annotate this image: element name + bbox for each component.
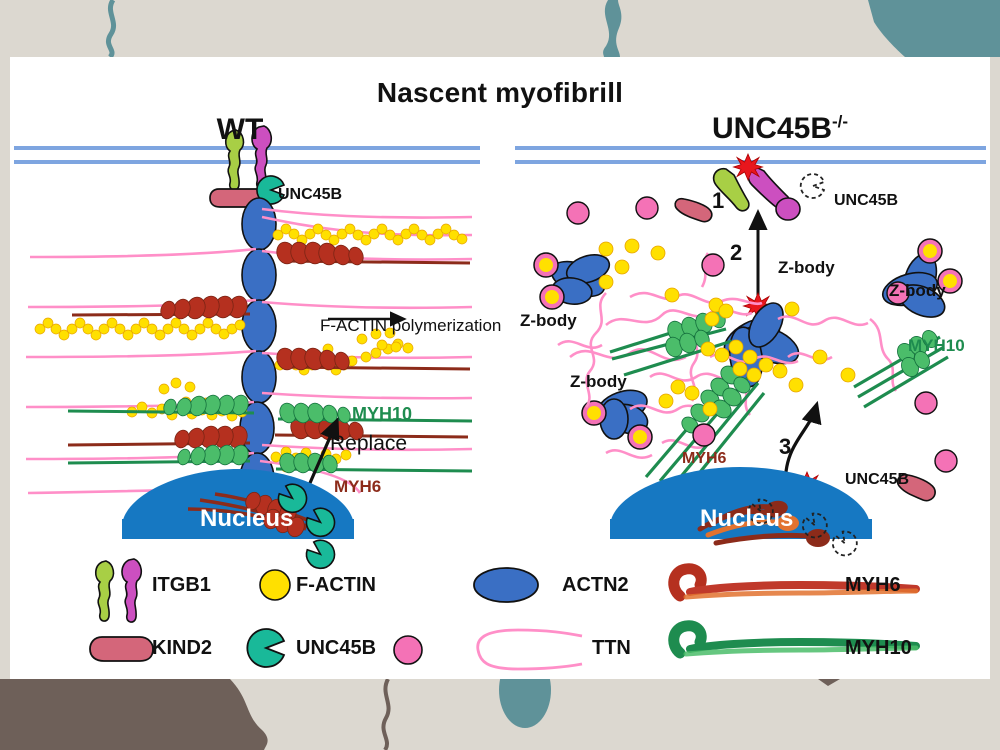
legend-label-kind2: KIND2	[152, 637, 212, 660]
figure-stage: Nascent myofibrill WT UNC45B-/- UNC45B F…	[0, 0, 1000, 750]
label-zbody-left-upper: Z-body	[520, 311, 577, 331]
legend-label-unc45b: UNC45B	[296, 637, 376, 660]
label-zbody-right: Z-body	[889, 281, 946, 301]
legend-label-ttn: TTN	[592, 637, 631, 660]
label-zbody-center: Z-body	[778, 258, 835, 278]
label-myh10-wt: MYH10	[352, 404, 412, 425]
label-step-3: 3	[779, 434, 791, 460]
label-myh6-ko: MYH6	[682, 450, 726, 468]
legend-icon-unc45b	[247, 629, 284, 667]
legend-label-actn2: ACTN2	[562, 574, 629, 597]
label-factin-polymerization: F-ACTIN polymerization	[320, 316, 501, 336]
label-step-1: 1	[712, 188, 724, 214]
label-step-2: 2	[730, 240, 742, 266]
label-nucleus-ko: Nucleus	[700, 505, 793, 533]
membrane-wt	[14, 148, 480, 162]
label-nucleus-wt: Nucleus	[200, 505, 293, 533]
label-replace: Replace	[330, 432, 407, 456]
legend-label-myh10: MYH10	[845, 637, 912, 660]
panel-title-wt: WT	[160, 113, 320, 147]
legend-label-itgb1: ITGB1	[152, 574, 211, 597]
label-unc45b-ko-bottom: UNC45B	[845, 471, 909, 489]
legend-icon-itgb1	[96, 559, 142, 622]
legend-icon-factin	[260, 570, 290, 600]
legend-icons	[90, 559, 916, 669]
label-zbody-left-lower: Z-body	[570, 372, 627, 392]
legend-icon-actn2	[474, 568, 538, 602]
label-myh6-wt: MYH6	[334, 477, 381, 497]
panel-title-ko: UNC45B-/-	[620, 112, 940, 146]
panel-title-ko-text: UNC45B	[712, 112, 832, 145]
legend-icon-ttn	[394, 630, 582, 669]
zbody-left-lower-ko	[582, 384, 652, 449]
label-myh10-ko: MYH10	[908, 336, 965, 356]
page-title: Nascent myofibrill	[0, 77, 1000, 109]
burst-step1	[734, 154, 763, 180]
legend-label-myh6: MYH6	[845, 574, 901, 597]
bg-brown-shape-bottomleft	[0, 679, 268, 750]
legend-icon-kind2	[90, 637, 153, 661]
label-unc45b-ko-top: UNC45B	[834, 192, 898, 210]
label-unc45b-wt: UNC45B	[278, 186, 342, 204]
legend-label-factin: F-ACTIN	[296, 574, 376, 597]
panel-title-ko-superscript: -/-	[832, 112, 848, 131]
unc45b-absent-icon-top	[801, 174, 824, 198]
